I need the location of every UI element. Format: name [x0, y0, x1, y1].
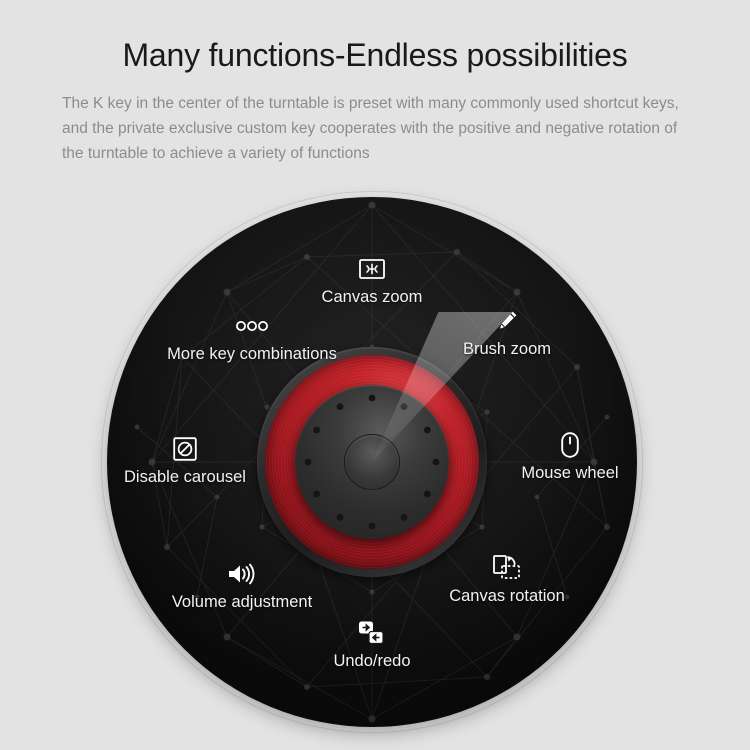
- feature-disable-carousel[interactable]: Disable carousel: [107, 435, 295, 487]
- k-key-center-button[interactable]: [344, 434, 400, 490]
- rotate-canvas-icon: [492, 554, 522, 582]
- feature-volume-adjustment[interactable]: Volume adjustment: [132, 560, 352, 612]
- mouse-icon: [561, 431, 579, 459]
- prohibit-square-icon: [173, 435, 197, 463]
- feature-label: Undo/redo: [333, 652, 410, 671]
- page-title: Many functions-Endless possibilities: [0, 0, 750, 73]
- feature-undo-redo[interactable]: Undo/redo: [262, 619, 482, 671]
- feature-label: Disable carousel: [124, 468, 246, 487]
- canvas-zoom-icon: [359, 255, 385, 283]
- feature-more-key-combinations[interactable]: More key combinations: [142, 312, 362, 364]
- feature-label: More key combinations: [167, 345, 337, 364]
- feature-canvas-rotation[interactable]: Canvas rotation: [397, 554, 617, 606]
- feature-label: Mouse wheel: [521, 464, 618, 483]
- feature-canvas-zoom[interactable]: Canvas zoom: [262, 255, 482, 307]
- page-description: The K key in the center of the turntable…: [62, 91, 682, 166]
- speaker-icon: [227, 560, 257, 588]
- feature-label: Brush zoom: [463, 340, 551, 359]
- header: Many functions-Endless possibilities The…: [0, 0, 750, 167]
- ellipsis-icon: [235, 312, 269, 340]
- undo-redo-icon: [357, 619, 387, 647]
- turntable-disc: Canvas zoom More key combinations: [107, 197, 637, 727]
- turntable-diagram: Canvas zoom More key combinations: [107, 197, 637, 727]
- feature-label: Canvas rotation: [449, 587, 565, 606]
- feature-label: Canvas zoom: [322, 288, 423, 307]
- feature-label: Volume adjustment: [172, 593, 312, 612]
- feature-brush-zoom[interactable]: Brush zoom: [397, 307, 617, 359]
- pencil-icon: [495, 307, 519, 335]
- feature-mouse-wheel[interactable]: Mouse wheel: [460, 431, 637, 483]
